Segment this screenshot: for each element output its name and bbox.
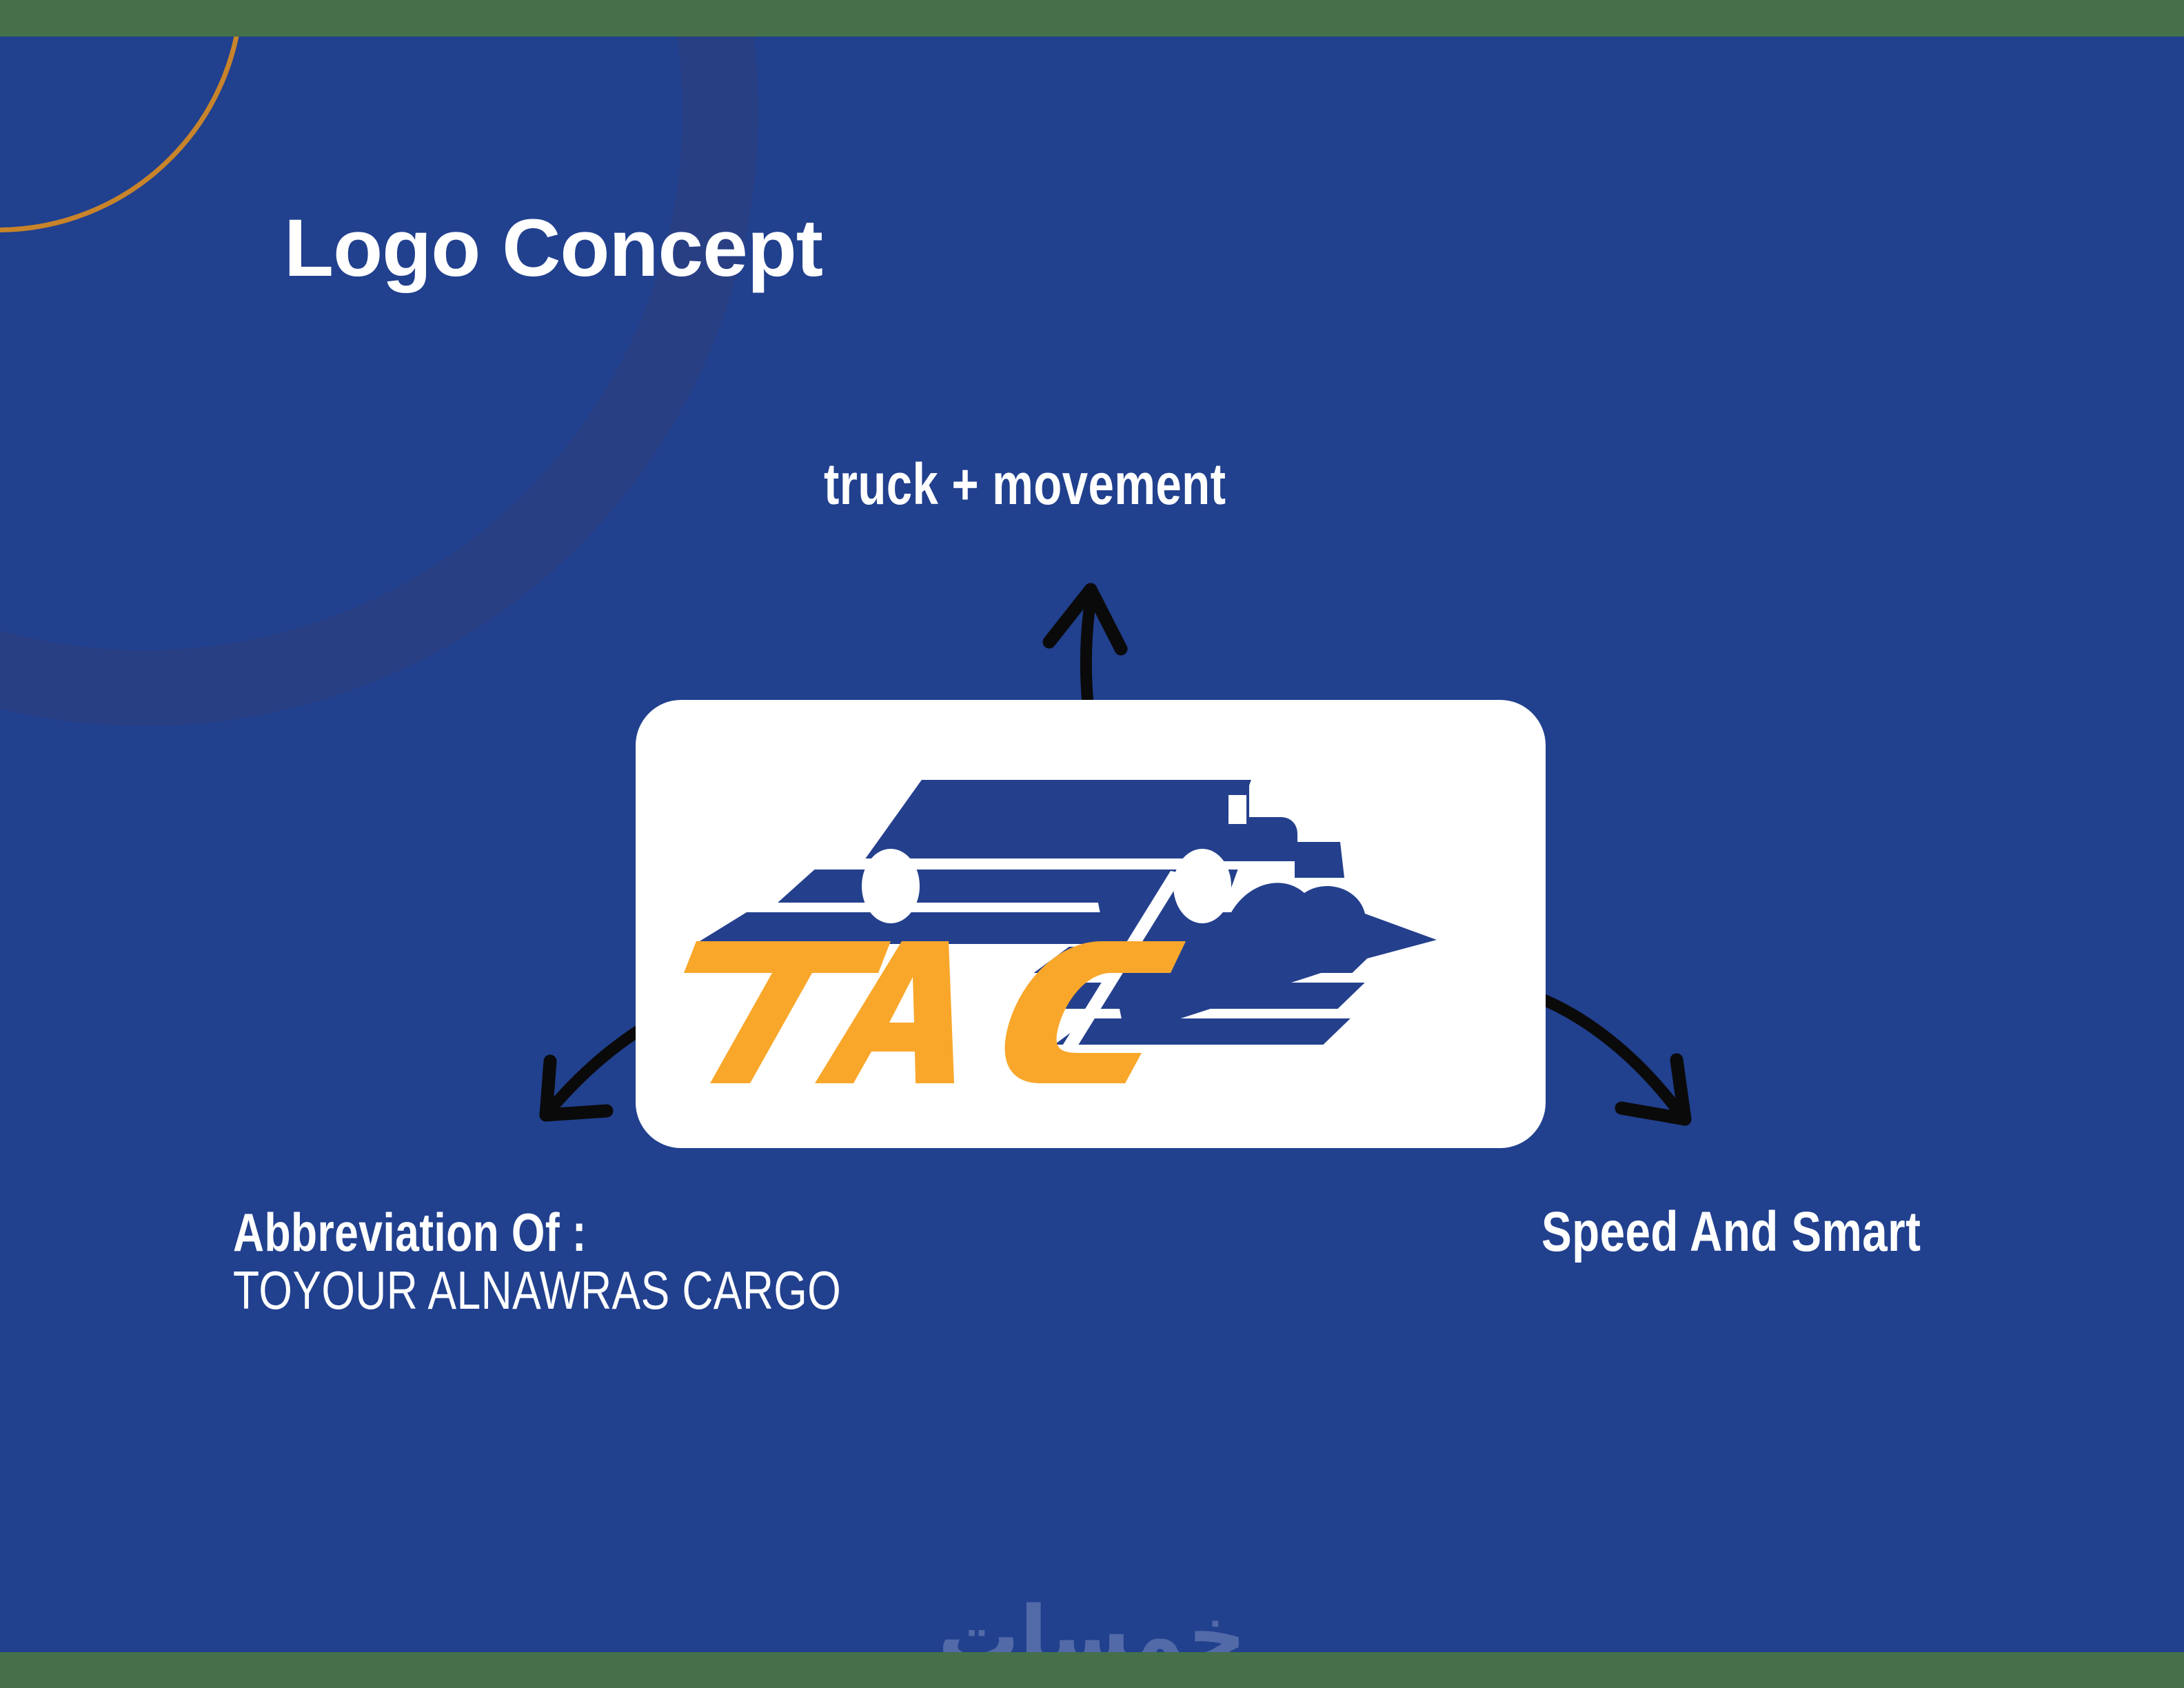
rear-wheel [862, 849, 920, 923]
callout-label-left: Abbreviation Of : TOYOUR ALNAWRAS CARGO [233, 1203, 841, 1319]
callout-left-line2: TOYOUR ALNAWRAS CARGO [233, 1261, 841, 1319]
tac-wordmark [684, 941, 1186, 1083]
top-green-band [0, 0, 2184, 37]
truck-trailer [865, 780, 1251, 858]
tac-logo-mark [684, 740, 1497, 1112]
callout-label-right: Speed And Smart [1541, 1202, 1921, 1263]
bottom-green-band [0, 1652, 2184, 1688]
watermark-text: خمسات [0, 1588, 2184, 1652]
page-title: Logo Concept [284, 208, 822, 289]
decorative-navy-arc [0, 37, 758, 726]
slide-canvas: Logo Concept truck + movement [0, 0, 2184, 1688]
callout-left-line1: Abbreviation Of : [233, 1203, 841, 1261]
logo-card [636, 700, 1546, 1148]
decorative-gold-arc [0, 37, 244, 232]
truck-cab [1208, 780, 1344, 878]
callout-label-top: truck + movement [824, 453, 1226, 516]
front-wheel [1173, 849, 1231, 923]
slide-stage: Logo Concept truck + movement [0, 37, 2184, 1652]
